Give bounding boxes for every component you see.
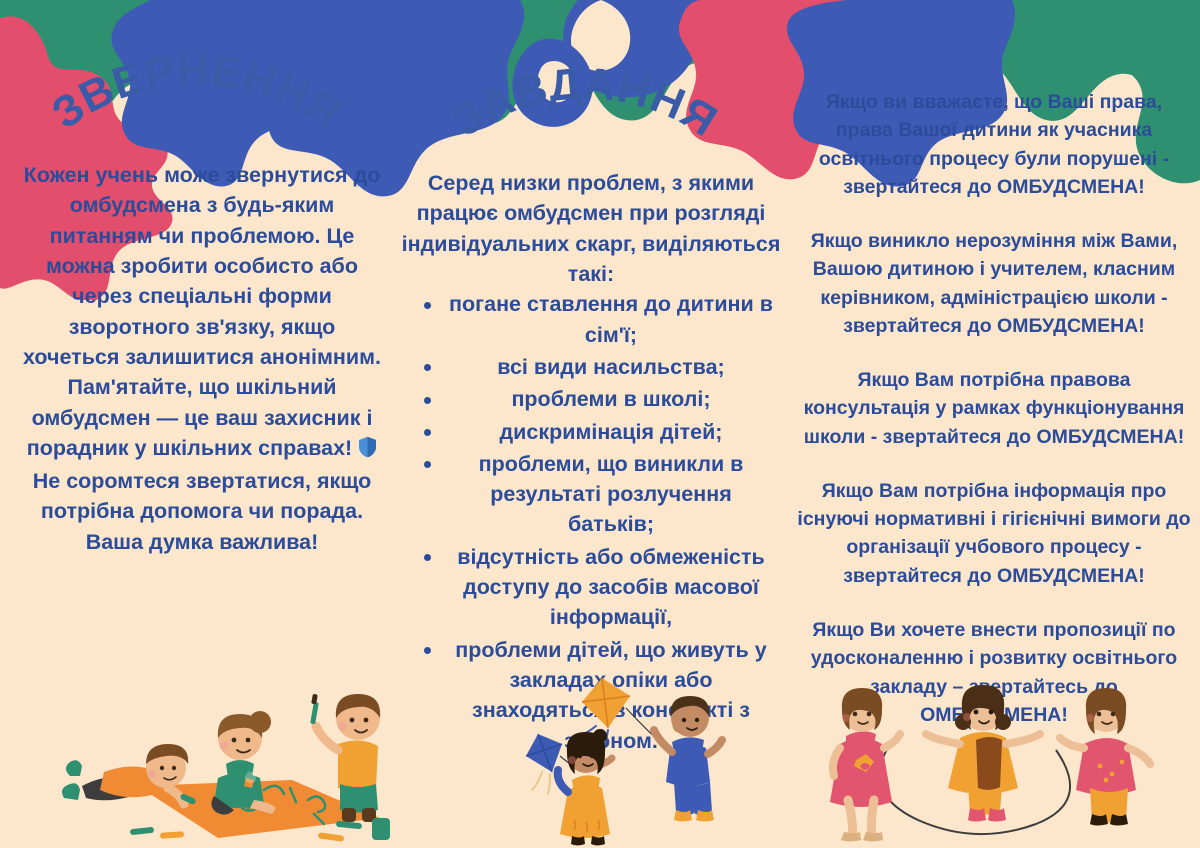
heading-zvernennya: ЗВЕРНЕННЯ <box>10 74 390 174</box>
heading-left-text: ЗВЕРНЕННЯ <box>43 45 350 138</box>
boy-with-kite <box>654 696 722 822</box>
children-kites-illustration <box>490 672 790 848</box>
column-appeals: Якщо ви вважаєте, що Ваші права, права В… <box>795 88 1193 729</box>
children-jumprope-illustration <box>800 682 1190 848</box>
left-paragraph-1: Кожен учень може звернутися до омбудсмен… <box>22 160 382 372</box>
mid-intro: Серед низки проблем, з якими працює омбу… <box>400 168 782 289</box>
children-drawing-illustration <box>42 668 402 848</box>
girl-with-kite <box>558 729 612 846</box>
list-item: дискримінація дітей; <box>400 417 782 447</box>
girl-center <box>926 685 1040 822</box>
shield-icon <box>358 436 377 466</box>
column-zavdannya: Серед низки проблем, з якими працює омбу… <box>400 168 782 758</box>
left-paragraph-3: Не соромтеся звертатися, якщо потрібна д… <box>33 469 372 554</box>
list-item: проблеми в школі; <box>400 384 782 414</box>
appeal-shout: ОМБУДСМЕНА! <box>1036 426 1184 448</box>
left-paragraph-2-text: Пам'ятайте, що шкільний омбудсмен — це в… <box>27 375 373 460</box>
boy-lying <box>62 744 197 805</box>
list-item: погане ставлення до дитини в сім'ї; <box>400 289 782 350</box>
girl-right <box>1060 688 1150 826</box>
heading-mid-text: ЗАВДАННЯ <box>444 59 726 146</box>
appeal-shout: ОМБУДСМЕНА! <box>997 315 1145 337</box>
list-item: відсутність або обмеженість доступу до з… <box>400 542 782 633</box>
girl-left <box>830 688 900 842</box>
appeal-block: Якщо Вам потрібна правова консультація у… <box>795 366 1193 451</box>
list-item: проблеми, що виникли в результаті розлуч… <box>400 449 782 540</box>
left-paragraph-2: Пам'ятайте, що шкільний омбудсмен — це в… <box>22 372 382 557</box>
column-zvernennya: Кожен учень може звернутися до омбудсмен… <box>22 160 382 557</box>
poster-canvas: ЗВЕРНЕННЯ ЗАВДАННЯ Кожен учень може звер… <box>0 0 1200 848</box>
appeal-shout: ОМБУДСМЕНА! <box>997 176 1145 198</box>
appeal-block: Якщо виникло нерозуміння між Вами, Вашою… <box>795 227 1193 340</box>
appeal-block: Якщо Вам потрібна інформація про існуючі… <box>795 477 1193 590</box>
appeal-block: Якщо ви вважаєте, що Ваші права, права В… <box>795 88 1193 201</box>
appeal-shout: ОМБУДСМЕНА! <box>997 565 1145 587</box>
list-item: всі види насильства; <box>400 352 782 382</box>
blue-swirl-inner-cut <box>571 0 630 71</box>
